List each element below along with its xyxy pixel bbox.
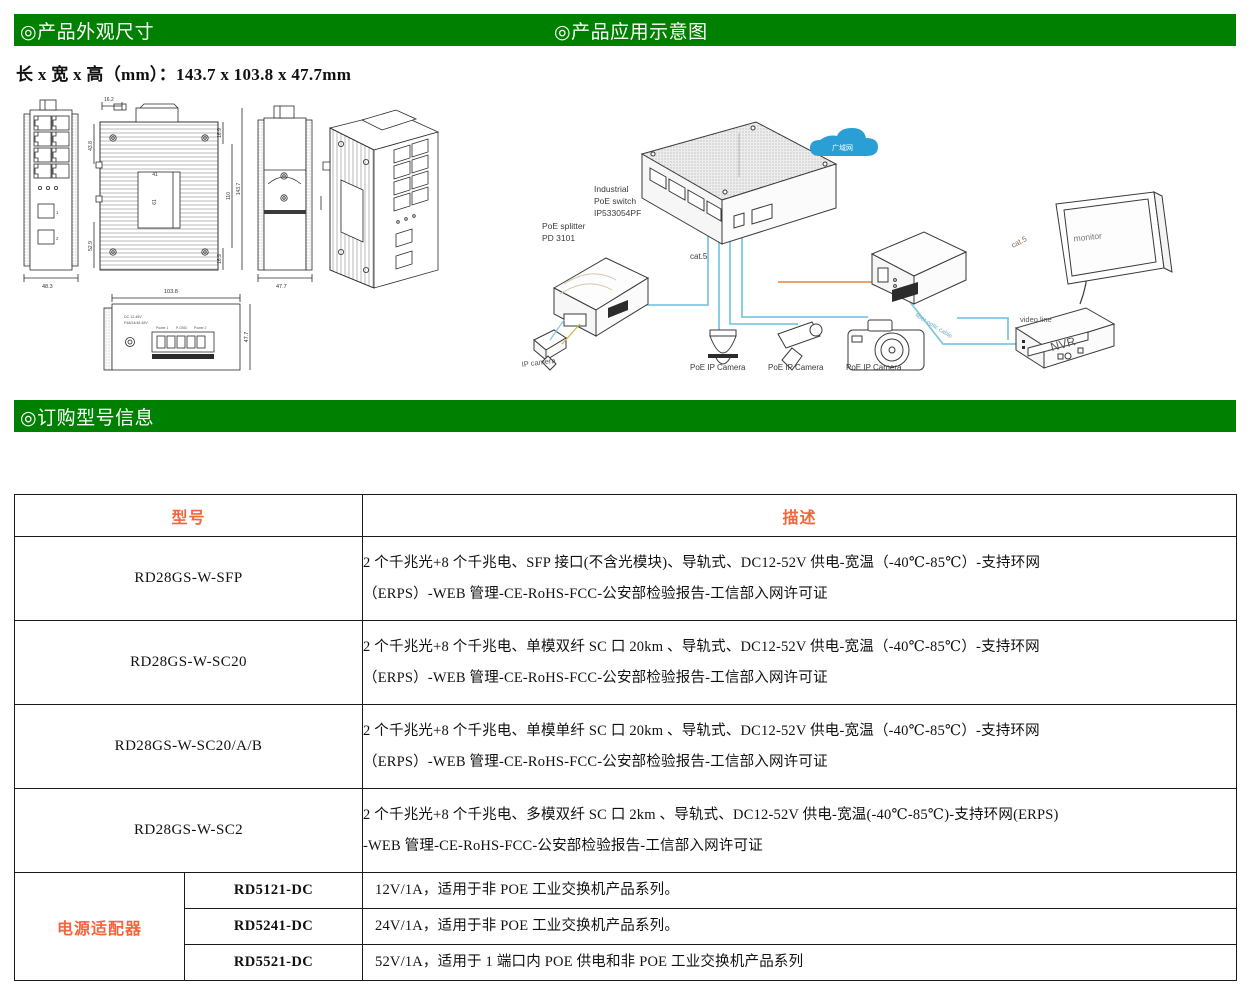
section-title-application: ◎产品应用示意图 <box>554 17 708 44</box>
svg-text:47.7: 47.7 <box>276 284 287 290</box>
adapter-group-label: 电源适配器 <box>15 873 185 981</box>
section-title-dimensions: ◎产品外观尺寸 <box>14 17 154 44</box>
adapter-model: RD5241-DC <box>185 909 363 945</box>
svg-text:61: 61 <box>152 199 158 205</box>
figures-area: 1 2 48.3 <box>0 92 1250 382</box>
adapter-model: RD5521-DC <box>185 945 363 981</box>
section-bar-dimensions: ◎产品外观尺寸 ◎产品应用示意图 <box>14 14 1236 46</box>
adapter-description: 52V/1A，适用于 1 端口内 POE 供电和非 POE 工业交换机产品系列 <box>363 945 1237 981</box>
svg-text:DC 12-48V: DC 12-48V <box>124 315 142 319</box>
svg-text:Power 2: Power 2 <box>194 326 207 330</box>
splitter-label-line1: PoE splitter <box>542 221 586 231</box>
description-line: -WEB 管理-CE-RoHS-FCC-公安部检验报告-工信部入网许可证 <box>363 832 1236 860</box>
dimension-caption: 长 x 宽 x 高（mm）：143.7 x 103.8 x 47.7mm <box>16 60 351 85</box>
view-top: 41 61 16.2 43.8 52.9 16.9 16.9 <box>88 97 242 270</box>
poe-ip-camera-label-2: PoE IP Camera <box>768 363 824 372</box>
switch-label-line2: PoE switch <box>594 196 636 206</box>
adapter-model: RD5121-DC <box>185 873 363 909</box>
description-line: 2 个千兆光+8 个千兆电、多模双纤 SC 口 2km 、导轨式、DC12-52… <box>363 801 1236 829</box>
model-description: 2 个千兆光+8 个千兆电、单模双纤 SC 口 20km 、导轨式、DC12-5… <box>363 621 1237 705</box>
table-row: RD28GS-W-SC20/A/B 2 个千兆光+8 个千兆电、单模单纤 SC … <box>15 705 1237 789</box>
model-name: RD28GS-W-SC2 <box>15 789 363 873</box>
svg-text:16.9: 16.9 <box>217 128 223 138</box>
section-title-ordering: ◎订购型号信息 <box>14 403 154 430</box>
table-row: RD28GS-W-SFP 2 个千兆光+8 个千兆电、SFP 接口(不含光模块)… <box>15 537 1237 621</box>
model-name: RD28GS-W-SC20/A/B <box>15 705 363 789</box>
video-line-label: video line <box>1020 315 1052 324</box>
column-header-model: 型号 <box>15 495 363 537</box>
model-description: 2 个千兆光+8 个千兆电、SFP 接口(不含光模块)、导轨式、DC12-52V… <box>363 537 1237 621</box>
table-header-row: 型号 描述 <box>15 495 1237 537</box>
cat5-label: cat.5 <box>690 252 708 261</box>
description-line: 2 个千兆光+8 个千兆电、单模双纤 SC 口 20km 、导轨式、DC12-5… <box>363 633 1236 661</box>
adapter-description: 24V/1A，适用于非 POE 工业交换机产品系列。 <box>363 909 1237 945</box>
adapter-description: 12V/1A，适用于非 POE 工业交换机产品系列。 <box>363 873 1237 909</box>
description-line: 2 个千兆光+8 个千兆电、单模单纤 SC 口 20km 、导轨式、DC12-5… <box>363 717 1236 745</box>
svg-text:41: 41 <box>152 172 158 178</box>
switch-label-line1: Industrial <box>594 184 629 194</box>
svg-text:52.9: 52.9 <box>88 241 94 251</box>
ordering-table-wrap: 型号 描述 RD28GS-W-SFP 2 个千兆光+8 个千兆电、SFP 接口(… <box>14 494 1236 981</box>
svg-text:103.8: 103.8 <box>164 289 178 295</box>
svg-text:16.9: 16.9 <box>217 254 223 264</box>
description-line: （ERPS）-WEB 管理-CE-RoHS-FCC-公安部检验报告-工信部入网许… <box>363 580 1236 608</box>
poe-switch-device <box>642 122 836 244</box>
description-line: 2 个千兆光+8 个千兆电、SFP 接口(不含光模块)、导轨式、DC12-52V… <box>363 549 1236 577</box>
poe-ip-camera-label-1: PoE IP Camera <box>690 363 746 372</box>
svg-text:47.7: 47.7 <box>244 332 250 343</box>
poe-splitter-device <box>554 258 648 336</box>
view-side: 47.7 <box>258 106 312 290</box>
model-name: RD28GS-W-SC20 <box>15 621 363 705</box>
svg-text:P48/24/48 48V: P48/24/48 48V <box>124 321 148 325</box>
model-description: 2 个千兆光+8 个千兆电、单模单纤 SC 口 20km 、导轨式、DC12-5… <box>363 705 1237 789</box>
view-bottom: DC 12-48V P48/24/48 48V Power 1 P-GND Po… <box>104 289 250 370</box>
svg-text:43.8: 43.8 <box>88 141 94 151</box>
switch-label-line3: IP533054PF <box>594 208 641 218</box>
description-line: （ERPS）-WEB 管理-CE-RoHS-FCC-公安部检验报告-工信部入网许… <box>363 664 1236 692</box>
svg-text:110: 110 <box>226 192 232 200</box>
svg-text:16.2: 16.2 <box>104 97 114 103</box>
cloud-label: 广域网 <box>832 143 853 152</box>
view-front: 1 2 48.3 <box>24 100 78 290</box>
splitter-label-line2: PD 3101 <box>542 233 575 243</box>
ordering-table: 型号 描述 RD28GS-W-SFP 2 个千兆光+8 个千兆电、SFP 接口(… <box>14 494 1237 981</box>
svg-text:P-GND: P-GND <box>176 326 187 330</box>
svg-text:48.3: 48.3 <box>42 284 53 290</box>
table-row-adapter: 电源适配器 RD5121-DC 12V/1A，适用于非 POE 工业交换机产品系… <box>15 873 1237 909</box>
svg-text:Power 1: Power 1 <box>156 326 169 330</box>
model-description: 2 个千兆光+8 个千兆电、多模双纤 SC 口 2km 、导轨式、DC12-52… <box>363 789 1237 873</box>
column-header-description: 描述 <box>363 495 1237 537</box>
model-name: RD28GS-W-SFP <box>15 537 363 621</box>
table-row-adapter: RD5521-DC 52V/1A，适用于 1 端口内 POE 供电和非 POE … <box>15 945 1237 981</box>
poe-ip-camera-dome <box>708 330 738 364</box>
view-isometric <box>321 110 438 288</box>
table-row: RD28GS-W-SC2 2 个千兆光+8 个千兆电、多模双纤 SC 口 2km… <box>15 789 1237 873</box>
cat5-right-label: cat.5 <box>1010 234 1029 250</box>
description-line: （ERPS）-WEB 管理-CE-RoHS-FCC-公安部检验报告-工信部入网许… <box>363 748 1236 776</box>
media-converter-device <box>872 232 966 304</box>
poe-ip-camera-label-3: PoE IP Camera <box>846 363 902 372</box>
svg-text:143.7: 143.7 <box>236 183 242 196</box>
table-row-adapter: RD5241-DC 24V/1A，适用于非 POE 工业交换机产品系列。 <box>15 909 1237 945</box>
application-diagram: Industrial PoE switch IP533054PF PoE spl… <box>520 92 1220 372</box>
section-bar-ordering: ◎订购型号信息 <box>14 400 1236 432</box>
table-row: RD28GS-W-SC20 2 个千兆光+8 个千兆电、单模双纤 SC 口 20… <box>15 621 1237 705</box>
mechanical-drawing: 1 2 48.3 <box>18 92 488 377</box>
